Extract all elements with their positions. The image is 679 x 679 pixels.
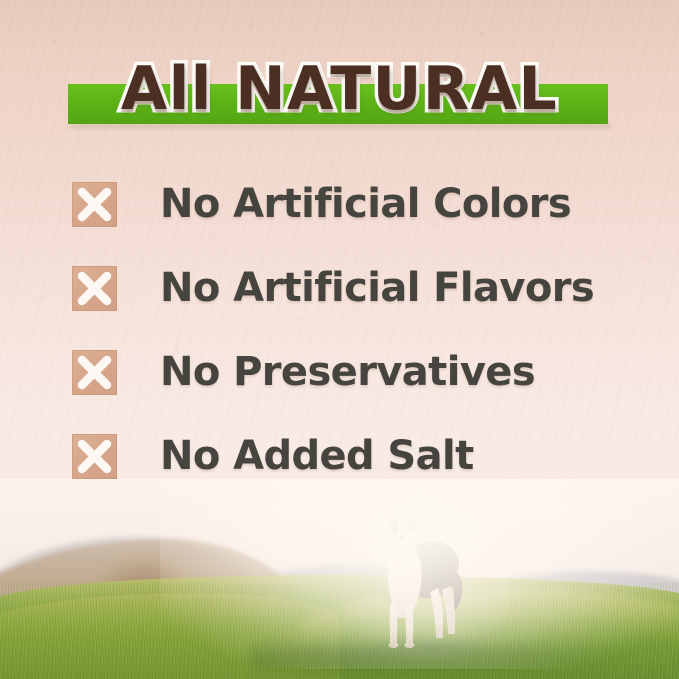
headline-text: All NATURAL (0, 52, 679, 126)
x-mark-icon (72, 266, 117, 311)
landscape-photo (0, 479, 679, 679)
claims-list: No Artificial Colors No Artificial Flavo… (72, 176, 632, 484)
x-mark-icon (72, 350, 117, 395)
claim-label: No Added Salt (160, 434, 632, 479)
claim-label: No Artificial Colors (160, 182, 632, 227)
claim-label: No Preservatives (160, 350, 632, 395)
border-collie-dog (360, 506, 472, 651)
list-item: No Preservatives (72, 344, 632, 400)
headline-block: All NATURAL (0, 52, 679, 130)
x-mark-icon (72, 434, 117, 479)
list-item: No Added Salt (72, 428, 632, 484)
list-item: No Artificial Colors (72, 176, 632, 232)
x-mark-icon (72, 182, 117, 227)
claim-label: No Artificial Flavors (160, 266, 632, 311)
list-item: No Artificial Flavors (72, 260, 632, 316)
all-natural-product-poster: All NATURAL No Artificial Colors (0, 0, 679, 679)
